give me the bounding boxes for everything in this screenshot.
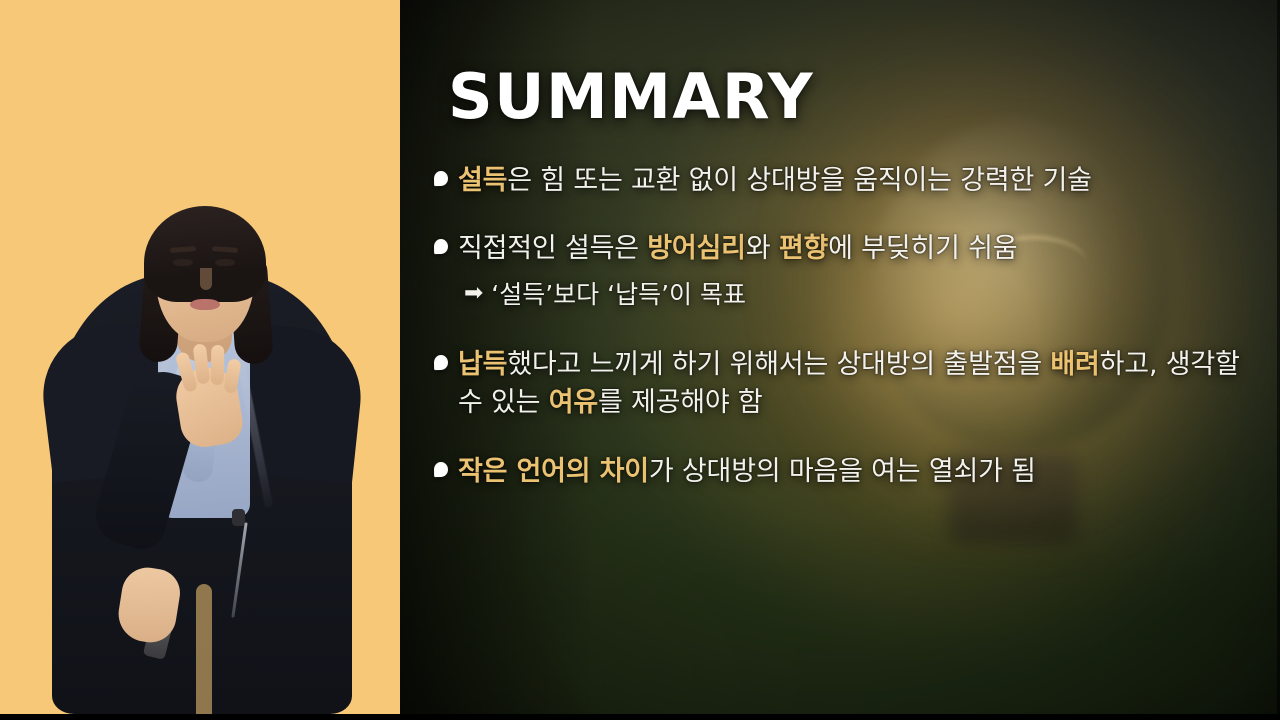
presentation-slide: SUMMARY 설득은 힘 또는 교환 없이 상대방을 움직이는 강력한 기술 … [400,0,1280,714]
slide-content: SUMMARY 설득은 힘 또는 교환 없이 상대방을 움직이는 강력한 기술 … [400,0,1280,714]
presenter-video-panel [0,0,400,714]
arrow-right-icon: ➡ [464,277,483,310]
summary-bullet-4: 작은 언어의 차이가 상대방의 마음을 여는 열쇠가 됨 [434,453,1256,491]
presenter-left-eye [173,259,193,266]
highlighted-keyword: 작은 언어의 차이 [458,456,649,487]
summary-bullet-2-text: 직접적인 설득은 방어심리와 편향에 부딪히기 쉬움 [458,230,1017,268]
body-text-run: 와 [746,233,779,264]
speech-bubble-bullet-icon [434,355,448,370]
body-text-run: 직접적인 설득은 [458,233,647,264]
presenter-nose [200,268,212,290]
summary-bullet-1-text: 설득은 힘 또는 교환 없이 상대방을 움직이는 강력한 기술 [458,162,1092,200]
summary-bullet-2: 직접적인 설득은 방어심리와 편향에 부딪히기 쉬움 [434,230,1256,268]
highlighted-keyword: 납득 [458,349,507,380]
highlighted-keyword: 설득 [458,165,507,196]
presenter-finger [211,345,225,385]
summary-bullet-2-subpoint: ➡ ‘설득’보다 ‘납득’이 목표 [464,277,1256,313]
summary-bullet-3-text: 납득했다고 느끼게 하기 위해서는 상대방의 출발점을 배려하고, 생각할 수 … [458,346,1256,423]
highlighted-keyword: 여유 [549,387,598,418]
body-text-run: 가 상대방의 마음을 여는 열쇠가 됨 [649,456,1036,487]
lavalier-mic-icon [232,509,245,526]
body-text-run: 를 제공해야 함 [598,387,763,418]
slide-title: SUMMARY [448,66,1256,128]
speech-bubble-bullet-icon [434,171,448,186]
summary-bullet-4-text: 작은 언어의 차이가 상대방의 마음을 여는 열쇠가 됨 [458,453,1036,491]
highlighted-keyword: 배려 [1050,349,1099,380]
speech-bubble-bullet-icon [434,239,448,254]
speech-bubble-bullet-icon [434,462,448,477]
presenter-right-eye [215,259,235,266]
summary-bullet-list: 설득은 힘 또는 교환 없이 상대방을 움직이는 강력한 기술 직접적인 설득은… [434,162,1256,491]
summary-bullet-2-subpoint-text: ‘설득’보다 ‘납득’이 목표 [491,277,746,313]
presenter-figure [0,114,400,714]
highlighted-keyword: 방어심리 [647,233,746,264]
highlighted-keyword: 편향 [779,233,828,264]
presenter-trouser-gap [196,584,212,714]
body-text-run: 은 힘 또는 교환 없이 상대방을 움직이는 강력한 기술 [507,165,1092,196]
body-text-run: 했다고 느끼게 하기 위해서는 상대방의 출발점을 [507,349,1050,380]
body-text-run: 에 부딪히기 쉬움 [828,233,1017,264]
slide-stage: SUMMARY 설득은 힘 또는 교환 없이 상대방을 움직이는 강력한 기술 … [0,0,1280,720]
presenter-mouth [190,299,220,310]
summary-bullet-1: 설득은 힘 또는 교환 없이 상대방을 움직이는 강력한 기술 [434,162,1256,200]
summary-bullet-3: 납득했다고 느끼게 하기 위해서는 상대방의 출발점을 배려하고, 생각할 수 … [434,346,1256,423]
bottom-letterbox-bar [0,714,1280,720]
